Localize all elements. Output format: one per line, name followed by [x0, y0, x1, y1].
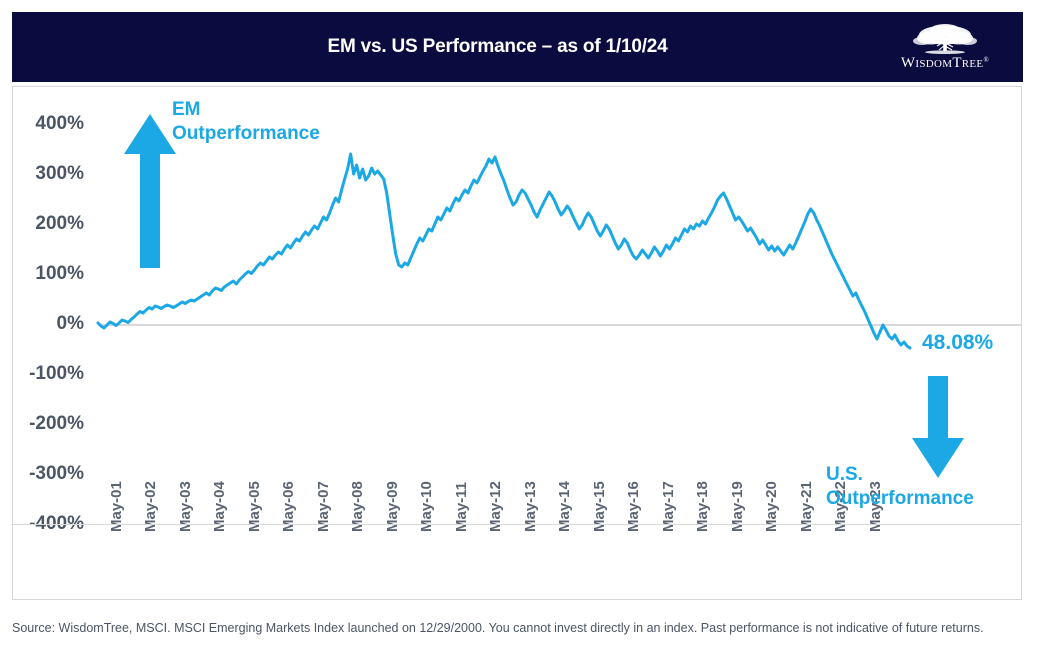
wisdomtree-logo: WISDOMTREE® — [889, 21, 1001, 75]
page-title: EM vs. US Performance – as of 1/10/24 — [12, 12, 1023, 82]
chart-frame — [12, 86, 1022, 600]
source-note: Source: WisdomTree, MSCI. MSCI Emerging … — [12, 619, 1024, 638]
title-bar: EM vs. US Performance – as of 1/10/24 WI… — [12, 12, 1023, 82]
chart-page: EM vs. US Performance – as of 1/10/24 WI… — [0, 0, 1052, 662]
svg-text:WISDOMTREE®: WISDOMTREE® — [901, 55, 990, 71]
